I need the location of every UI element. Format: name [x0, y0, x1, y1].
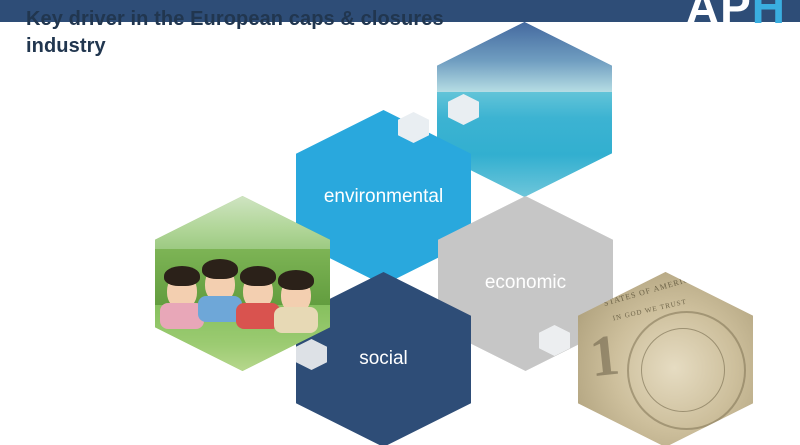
logo-accent-text: H	[752, 0, 786, 33]
company-logo: APH	[686, 0, 786, 30]
sea-sky-region	[437, 22, 612, 92]
child-figure	[205, 266, 235, 302]
child-figure	[167, 273, 197, 309]
slide-canvas: APH Key driver in the European caps & cl…	[0, 0, 800, 445]
banknote-seal	[675, 349, 745, 419]
hexagon-economic-label: economic	[438, 272, 613, 294]
child-shirt	[274, 307, 318, 333]
hexagon-environmental-label: environmental	[296, 186, 471, 208]
child-figure	[281, 277, 311, 313]
child-figure	[243, 273, 273, 309]
logo-main-text: AP	[686, 0, 752, 33]
slide-title: Key driver in the European caps & closur…	[26, 6, 456, 60]
